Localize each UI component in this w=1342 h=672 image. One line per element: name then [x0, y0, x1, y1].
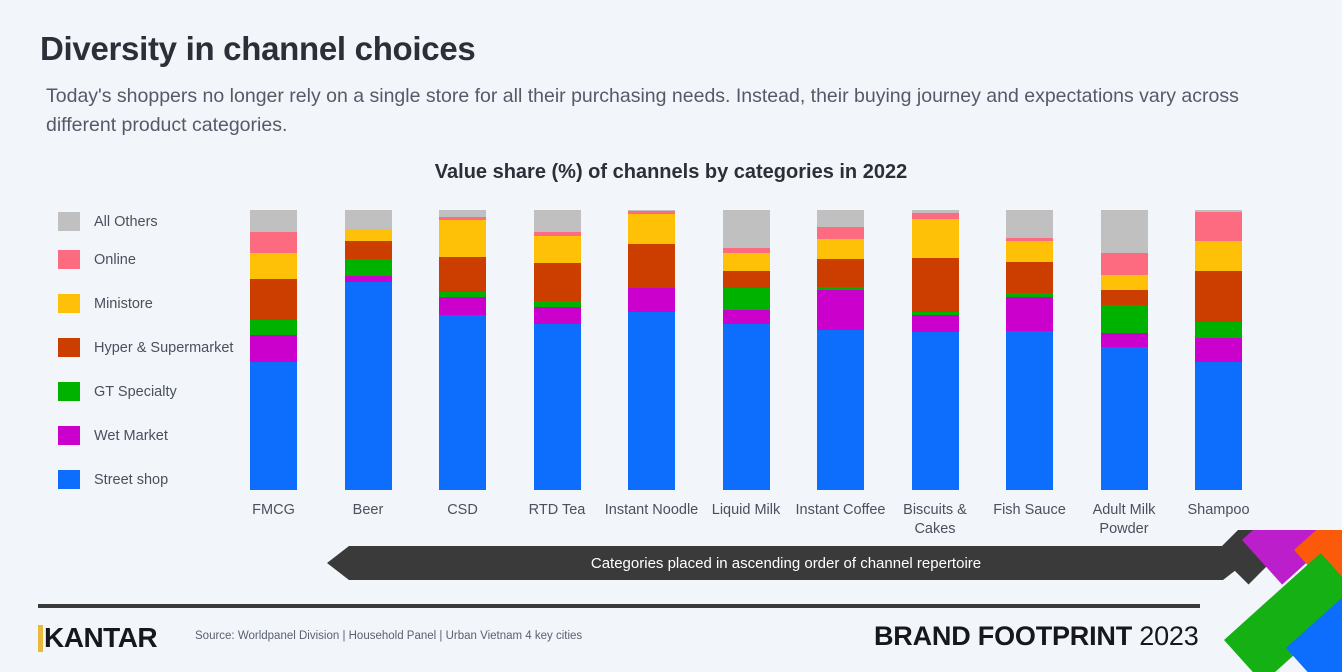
bar-segment [723, 288, 770, 310]
bar-segment [817, 287, 864, 290]
bar-column[interactable] [912, 210, 959, 490]
ordering-banner-label: Categories placed in ascending order of … [591, 555, 981, 572]
bar-segment [534, 236, 581, 263]
bar-segment [723, 248, 770, 253]
bar-segment [1195, 212, 1242, 241]
bar-segment [628, 288, 675, 312]
category-label: Fish Sauce [978, 501, 1082, 520]
bar-segment [1006, 241, 1053, 262]
report-name: BRAND FOOTPRINT [874, 621, 1132, 651]
bar-segment [723, 253, 770, 271]
bar-segment [817, 330, 864, 490]
bar-segment [1101, 253, 1148, 275]
bar-segment [1195, 271, 1242, 322]
category-label: Instant Noodle [600, 501, 704, 520]
bar-segment [534, 324, 581, 490]
brand-corner-mark [1220, 530, 1342, 672]
bar-segment [628, 211, 675, 214]
bar-segment [1101, 275, 1148, 290]
bar-segment [1101, 290, 1148, 305]
bar-segment [817, 239, 864, 259]
bar-segment [1195, 362, 1242, 490]
bar-segment [912, 213, 959, 219]
bar-segment [628, 210, 675, 211]
slide-root: Diversity in channel choices Today's sho… [0, 0, 1342, 672]
bar-segment [723, 324, 770, 490]
bar-column[interactable] [1195, 210, 1242, 490]
category-label: Liquid Milk [694, 501, 798, 520]
bar-segment [628, 244, 675, 288]
category-label: Beer [316, 501, 420, 520]
bar-segment [1101, 333, 1148, 347]
bar-segment [1006, 262, 1053, 293]
bar-segment [817, 290, 864, 330]
bar-segment [912, 332, 959, 490]
bar-segment [723, 210, 770, 248]
bar-segment [250, 210, 297, 232]
bar-segment [439, 315, 486, 490]
ordering-banner: Categories placed in ascending order of … [327, 546, 1245, 580]
bar-segment [817, 210, 864, 227]
bar-segment [817, 227, 864, 239]
report-title: BRAND FOOTPRINT 2023 [874, 621, 1199, 652]
bar-segment [1195, 241, 1242, 271]
bar-segment [1101, 210, 1148, 253]
category-label: Shampoo [1167, 501, 1271, 520]
bar-segment [345, 259, 392, 276]
bar-segment [250, 253, 297, 279]
bar-column[interactable] [439, 210, 486, 490]
category-label: FMCG [222, 501, 326, 520]
bar-segment [1195, 338, 1242, 362]
bar-segment [912, 210, 959, 213]
bar-column[interactable] [1101, 210, 1148, 490]
bar-segment [912, 258, 959, 312]
bar-segment [723, 310, 770, 324]
bar-segment [345, 282, 392, 490]
source-note: Source: Worldpanel Division | Household … [195, 630, 582, 642]
bar-segment [345, 210, 392, 229]
bar-column[interactable] [723, 210, 770, 490]
bar-column[interactable] [534, 210, 581, 490]
bar-segment [1101, 347, 1148, 490]
bar-segment [439, 210, 486, 217]
bar-segment [439, 297, 486, 315]
bar-segment [345, 229, 392, 241]
bar-segment [1006, 293, 1053, 297]
bar-column[interactable] [817, 210, 864, 490]
bar-segment [628, 214, 675, 244]
bar-segment [723, 271, 770, 288]
report-year: 2023 [1139, 621, 1198, 651]
bar-segment [628, 312, 675, 490]
bar-segment [912, 315, 959, 332]
bar-segment [1195, 322, 1242, 338]
bar-segment [439, 292, 486, 297]
category-label: Instant Coffee [789, 501, 893, 520]
bar-segment [1006, 210, 1053, 238]
category-label: RTD Tea [505, 501, 609, 520]
bar-segment [912, 312, 959, 315]
bar-segment [250, 320, 297, 335]
category-label: Adult Milk Powder [1072, 501, 1176, 539]
bar-column[interactable] [628, 210, 675, 490]
kantar-logo: KANTAR [38, 622, 157, 654]
bar-segment [345, 241, 392, 259]
bar-segment [1101, 305, 1148, 333]
bar-segment [250, 335, 297, 362]
bar-column[interactable] [250, 210, 297, 490]
category-label: CSD [411, 501, 515, 520]
bar-segment [912, 219, 959, 258]
bar-segment [817, 259, 864, 287]
bar-segment [534, 232, 581, 236]
bar-segment [534, 210, 581, 232]
bar-segment [534, 263, 581, 301]
bar-segment [1006, 297, 1053, 331]
bar-column[interactable] [1006, 210, 1053, 490]
bar-column[interactable] [345, 210, 392, 490]
footer-divider [38, 604, 1200, 608]
bar-segment [439, 220, 486, 257]
bar-segment [439, 217, 486, 220]
bar-segment [1006, 238, 1053, 241]
bar-segment [250, 279, 297, 320]
bar-segment [439, 257, 486, 292]
bar-segment [534, 301, 581, 307]
bar-segment [345, 276, 392, 282]
bar-segment [534, 307, 581, 324]
bar-segment [250, 362, 297, 490]
category-label: Biscuits & Cakes [883, 501, 987, 539]
bar-segment [1006, 331, 1053, 490]
bar-segment [1195, 210, 1242, 212]
bar-segment [250, 232, 297, 253]
